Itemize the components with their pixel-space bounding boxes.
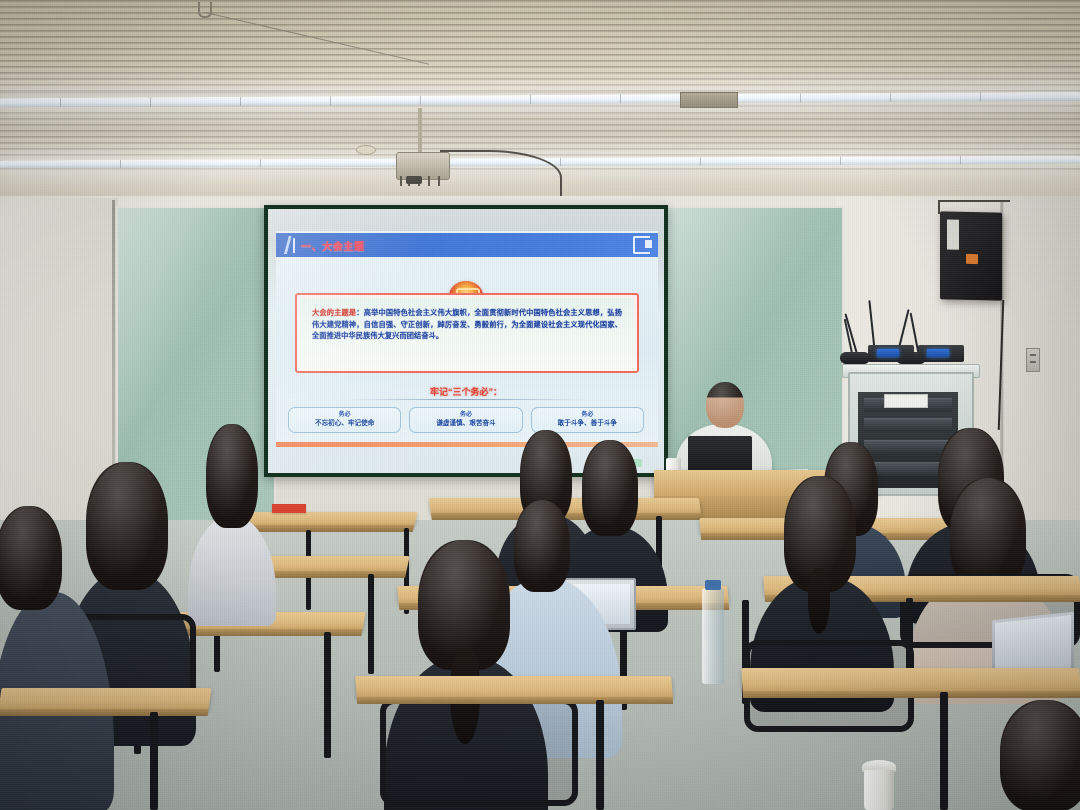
wireless-receiver-2[interactable]: [918, 345, 964, 362]
attendee-left-back: [186, 424, 278, 624]
slide-title-bar: 一、大会主题: [276, 233, 658, 257]
desk-leg: [150, 712, 158, 810]
left-wall-seam: [112, 200, 115, 500]
title-decoration-icon: [283, 236, 292, 254]
attendee-head: [206, 424, 258, 528]
bottle-cap: [705, 580, 721, 590]
theme-separator: ：: [356, 308, 363, 317]
wall-power-socket: [1026, 348, 1040, 372]
card-2-head: 务必: [412, 411, 519, 419]
card-2-body: 谦虚谨慎、艰苦奋斗: [412, 419, 519, 428]
chair-back: [380, 698, 578, 806]
brand-logo-icon: [633, 236, 650, 254]
desk-leg: [596, 700, 604, 810]
smoke-detector-icon: [356, 145, 376, 155]
attendee-ponytail: [808, 568, 830, 634]
card-3-head: 务必: [534, 411, 641, 419]
desk-row-right-front: [741, 668, 1080, 692]
speaker-label: [947, 219, 959, 249]
slide-section-heading: 牢记“三个务必”：: [268, 385, 664, 398]
card-1-body: 不忘初心、牢记使命: [291, 419, 398, 428]
card-3-body: 敢于斗争、善于斗争: [534, 419, 641, 428]
section-divider: [346, 399, 586, 400]
microphone-1: [840, 352, 870, 364]
slide-theme-box: 大会的主题是：高举中国特色社会主义伟大旗帜，全面贯彻新时代中国特色社会主义思想，…: [295, 293, 639, 373]
speaker-indicator-icon: [966, 254, 978, 264]
wall-mounted-speaker: [940, 211, 1002, 300]
presenter-laptop-lid: [688, 436, 752, 474]
classroom-scene: 一、大会主题 大会的主题是：高举中国特色社会主义伟大旗帜，全面贯彻新时代中国特色…: [0, 0, 1080, 810]
av-rack-label: [884, 394, 928, 408]
desk-row-center-front: [355, 676, 673, 698]
slide-card-1: 务必 不忘初心、牢记使命: [288, 407, 401, 433]
desk-leg: [368, 574, 374, 674]
projection-screen: 一、大会主题 大会的主题是：高举中国特色社会主义伟大旗帜，全面贯彻新时代中国特色…: [268, 209, 664, 473]
water-bottle: [702, 588, 724, 684]
attendee-left-front: [0, 506, 112, 806]
projector-mount: [418, 108, 422, 154]
lidded-tea-cup: [864, 770, 894, 810]
attendee-bottom-right: [1000, 700, 1080, 810]
desk-row-foreground-left: [0, 688, 212, 710]
wireless-receiver-1[interactable]: [868, 345, 914, 362]
attendee-head: [0, 506, 62, 610]
slide-theme-text: 大会的主题是：高举中国特色社会主义伟大旗帜，全面贯彻新时代中国特色社会主义思想，…: [312, 307, 622, 342]
attendee-torso: [188, 516, 276, 626]
presenter-head: [706, 382, 744, 428]
ceiling-hook-icon: [198, 2, 212, 18]
projector-lens-icon: [406, 176, 422, 184]
ceiling-air-vent: [680, 92, 738, 108]
slide-title: 一、大会主题: [301, 238, 365, 253]
theme-label: 大会的主题是: [312, 308, 356, 317]
title-tick-icon: [293, 238, 295, 253]
desk-leg: [324, 632, 331, 758]
projection-screen-frame: 一、大会主题 大会的主题是：高举中国特色社会主义伟大旗帜，全面贯彻新时代中国特色…: [264, 205, 668, 477]
desk-leg: [940, 692, 948, 810]
attendee-head: [1000, 700, 1080, 810]
card-1-head: 务必: [291, 411, 398, 419]
ceiling-panel-upper: [0, 0, 1080, 92]
